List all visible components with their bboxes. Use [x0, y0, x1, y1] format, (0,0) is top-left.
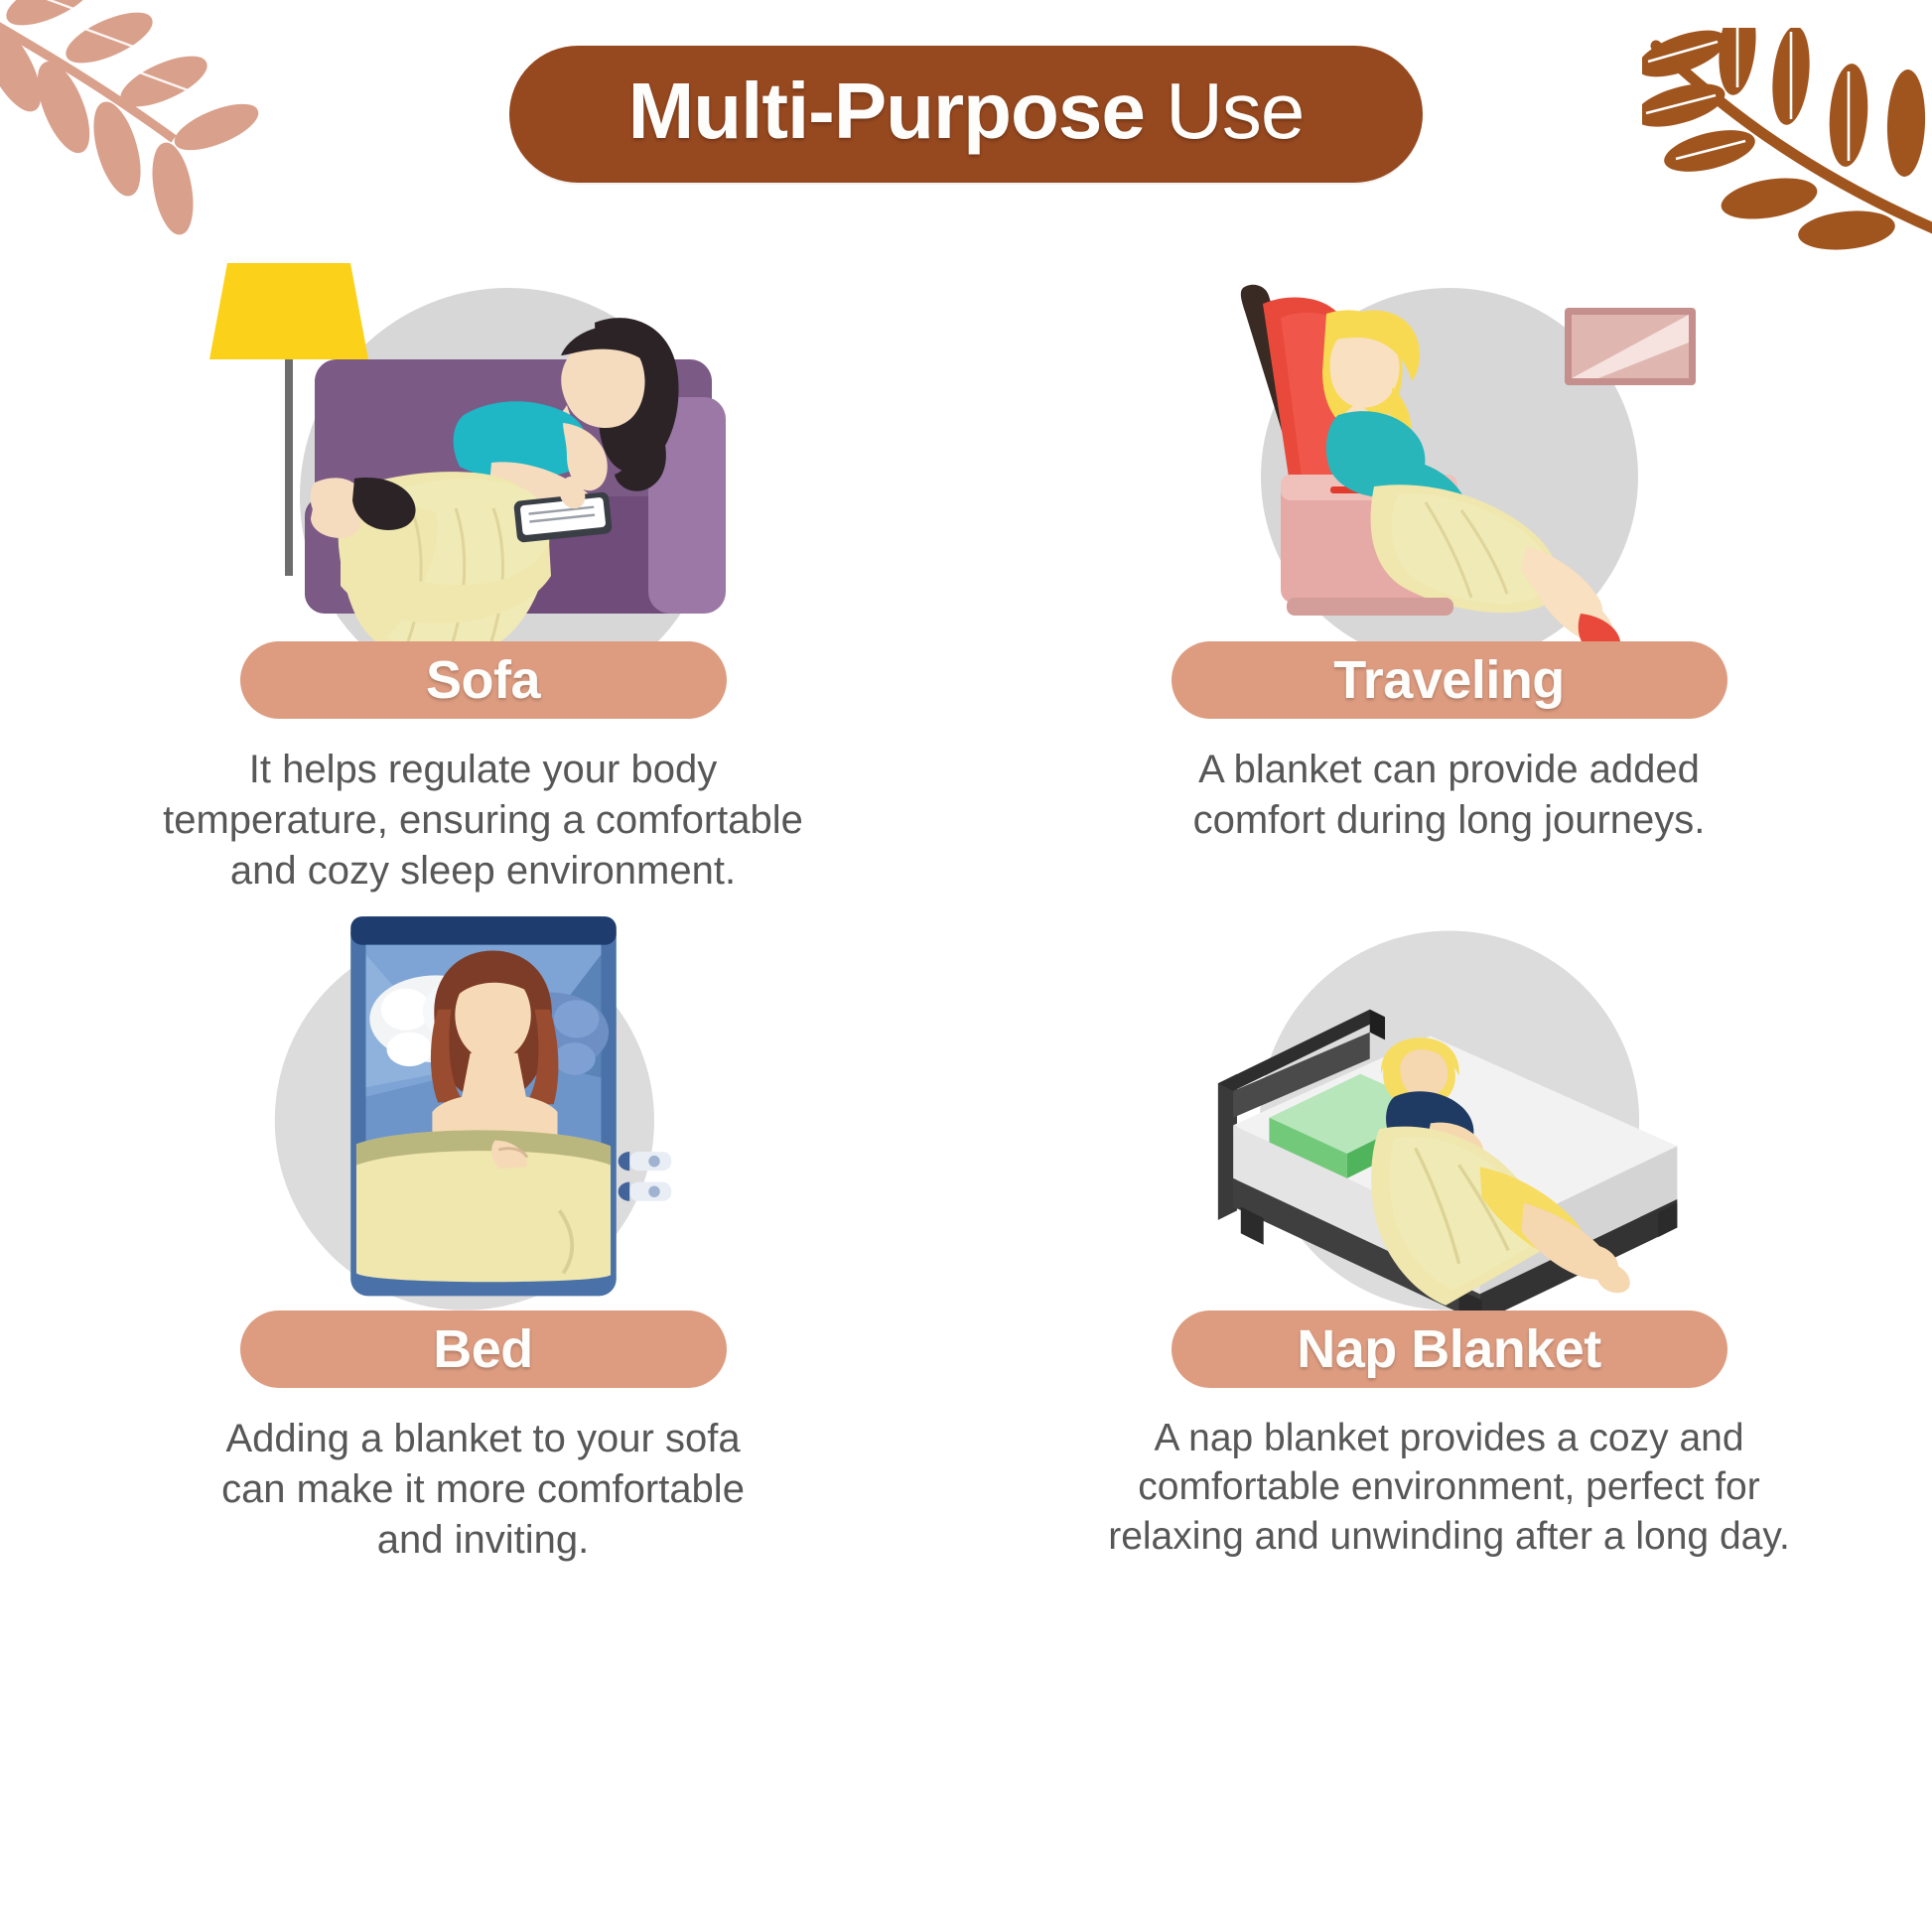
card-label-sofa[interactable]: Sofa	[240, 641, 727, 719]
card-traveling: Traveling A blanket can provide added co…	[966, 248, 1932, 897]
card-label-text: Sofa	[426, 649, 540, 711]
card-label-text: Traveling	[1333, 649, 1565, 711]
header: Multi-Purpose Use	[0, 46, 1932, 183]
card-description-traveling: A blanket can provide added comfort duri…	[1057, 745, 1842, 846]
page-title-pill: Multi-Purpose Use	[509, 46, 1423, 183]
sofa-illustration	[166, 248, 801, 675]
infographic-page: Multi-Purpose Use	[0, 0, 1932, 1932]
card-description-nap-blanket: A nap blanket provides a cozy and comfor…	[1057, 1414, 1842, 1563]
card-bed: Bed Adding a blanket to your sofa can ma…	[0, 897, 966, 1567]
page-title-light: Use	[1145, 67, 1305, 155]
bed-illustration	[166, 897, 801, 1344]
card-label-text: Bed	[433, 1318, 533, 1380]
card-nap-blanket: Nap Blanket A nap blanket provides a coz…	[966, 897, 1932, 1567]
card-description-bed: Adding a blanket to your sofa can make i…	[91, 1414, 876, 1567]
page-title-bold: Multi-Purpose	[628, 67, 1145, 155]
card-label-bed[interactable]: Bed	[240, 1311, 727, 1388]
card-label-traveling[interactable]: Traveling	[1172, 641, 1727, 719]
cards-grid: Sofa It helps regulate your body tempera…	[0, 248, 1932, 1566]
card-sofa: Sofa It helps regulate your body tempera…	[0, 248, 966, 897]
nap-blanket-illustration	[1132, 897, 1767, 1344]
card-label-text: Nap Blanket	[1297, 1318, 1601, 1380]
traveling-illustration	[1132, 248, 1767, 675]
card-label-nap-blanket[interactable]: Nap Blanket	[1172, 1311, 1727, 1388]
card-description-sofa: It helps regulate your body temperature,…	[91, 745, 876, 897]
